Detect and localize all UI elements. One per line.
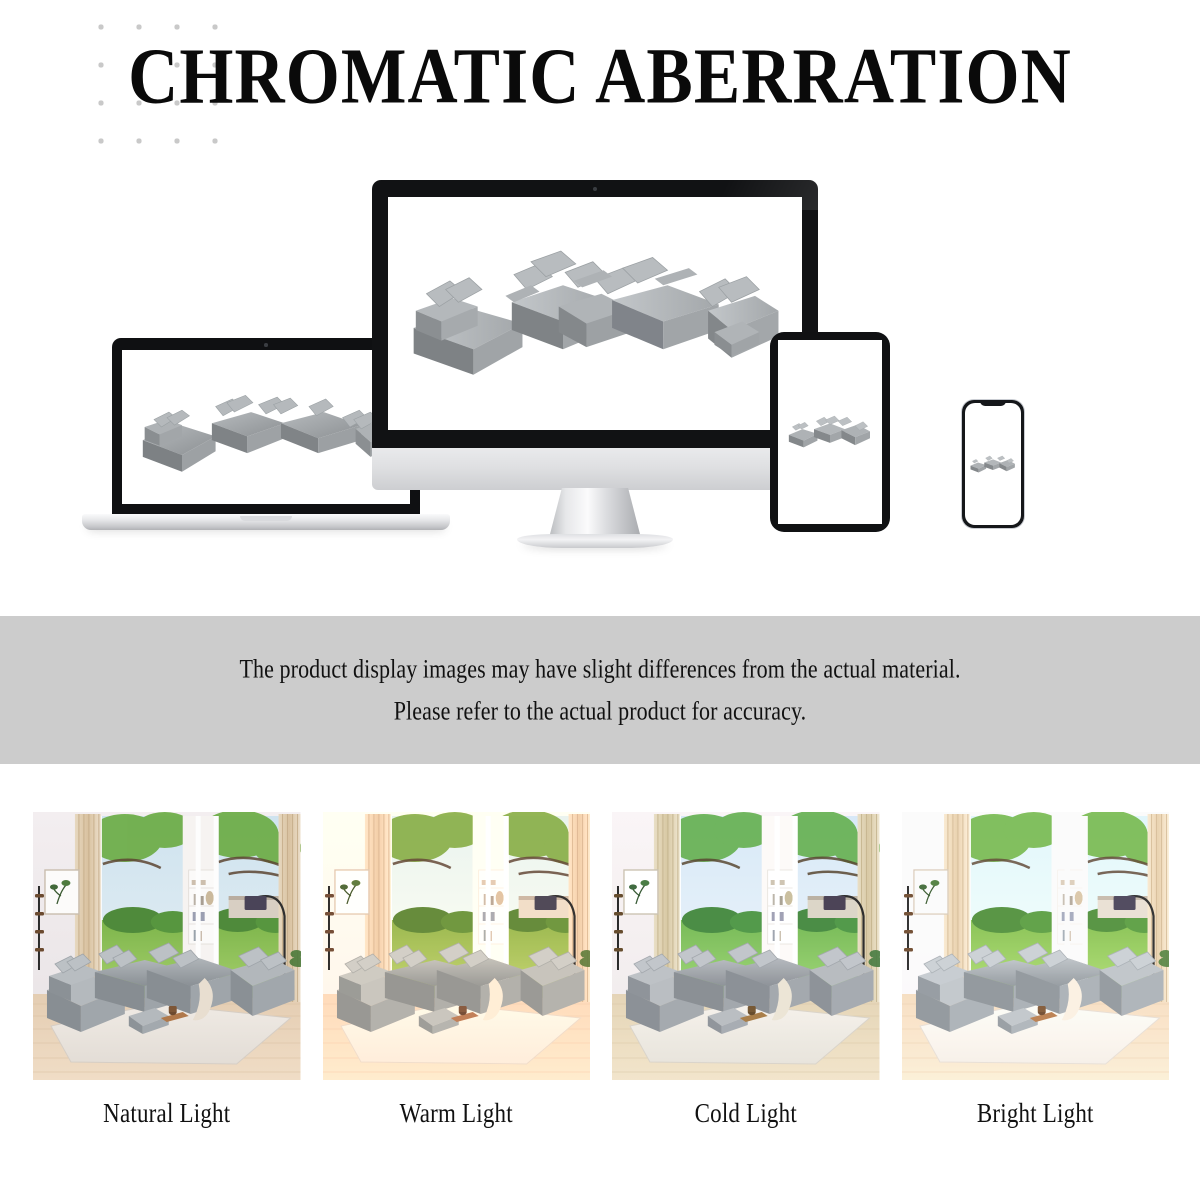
monitor-bezel bbox=[372, 180, 818, 450]
disclaimer-banner: The product display images may have slig… bbox=[0, 616, 1200, 764]
room-photo-natural bbox=[33, 812, 301, 1080]
lighting-label-cold: Cold Light bbox=[612, 1098, 880, 1151]
lighting-cell-bright[interactable] bbox=[902, 812, 1170, 1080]
webcam-icon bbox=[593, 187, 597, 191]
sofa-product-image-laptop bbox=[122, 350, 410, 504]
lighting-label-warm: Warm Light bbox=[323, 1098, 591, 1151]
sofa-product-image-tablet bbox=[778, 340, 882, 524]
phone-bezel bbox=[962, 400, 1024, 528]
disclaimer-line-2: Please refer to the actual product for a… bbox=[394, 686, 807, 735]
tablet-bezel bbox=[770, 332, 890, 532]
monitor-mockup bbox=[372, 180, 818, 480]
lighting-cell-cold[interactable] bbox=[612, 812, 880, 1080]
sofa-product-image-monitor bbox=[388, 197, 802, 430]
page-title: CHROMATIC ABERRATION bbox=[0, 32, 1200, 123]
lighting-label-natural: Natural Light bbox=[33, 1098, 301, 1151]
room-photo-warm bbox=[323, 812, 591, 1080]
lighting-cell-natural[interactable] bbox=[33, 812, 301, 1080]
monitor-screen bbox=[388, 197, 802, 430]
webcam-icon bbox=[264, 343, 268, 347]
monitor-stand-neck bbox=[549, 488, 641, 538]
phone-notch bbox=[980, 400, 1006, 406]
monitor-chin bbox=[372, 448, 818, 490]
tablet-screen bbox=[778, 340, 882, 524]
laptop-screen bbox=[122, 350, 410, 504]
laptop-trackpad-notch bbox=[240, 516, 292, 521]
room-photo-cold bbox=[612, 812, 880, 1080]
room-photo-bright bbox=[902, 812, 1170, 1080]
device-mockup-group bbox=[0, 170, 1200, 590]
lighting-comparison-grid bbox=[33, 812, 1169, 1080]
product-detail-page: CHROMATIC ABERRATION bbox=[0, 0, 1200, 1200]
lighting-cell-warm[interactable] bbox=[323, 812, 591, 1080]
lighting-label-bright: Bright Light bbox=[902, 1098, 1170, 1151]
lighting-label-row: Natural Light Warm Light Cold Light Brig… bbox=[33, 1098, 1169, 1142]
phone-mockup bbox=[962, 400, 1024, 528]
tablet-mockup bbox=[770, 332, 890, 532]
phone-screen bbox=[965, 403, 1021, 525]
sofa-product-image-phone bbox=[965, 403, 1021, 525]
monitor-stand-foot bbox=[517, 534, 673, 548]
